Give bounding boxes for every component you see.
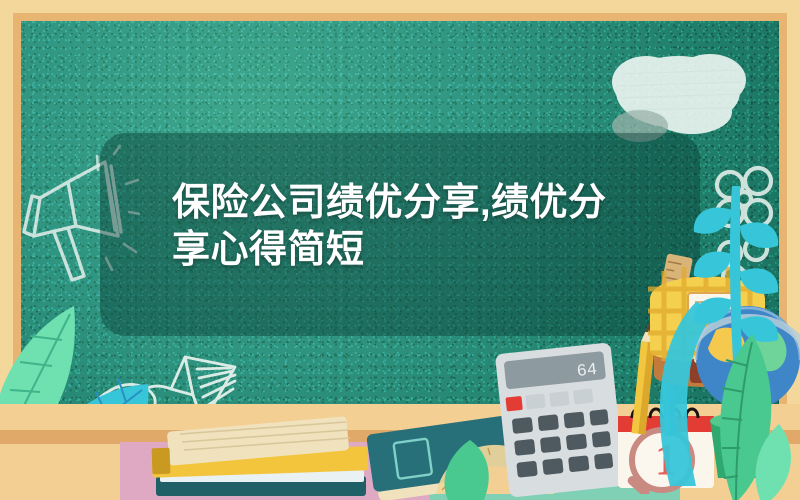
leaf-decoration: [745, 420, 800, 500]
leaf-decoration: [430, 436, 510, 500]
calculator-screen-value: 64: [576, 361, 598, 382]
leaf-decoration: [640, 300, 730, 490]
calculator[interactable]: 64: [492, 338, 627, 500]
page-title: 保险公司绩优分享,绩优分 享心得简短: [172, 180, 642, 274]
poster-canvas: 保险公司绩优分享,绩优分 享心得简短: [0, 0, 800, 500]
stacked-books: [150, 414, 380, 500]
